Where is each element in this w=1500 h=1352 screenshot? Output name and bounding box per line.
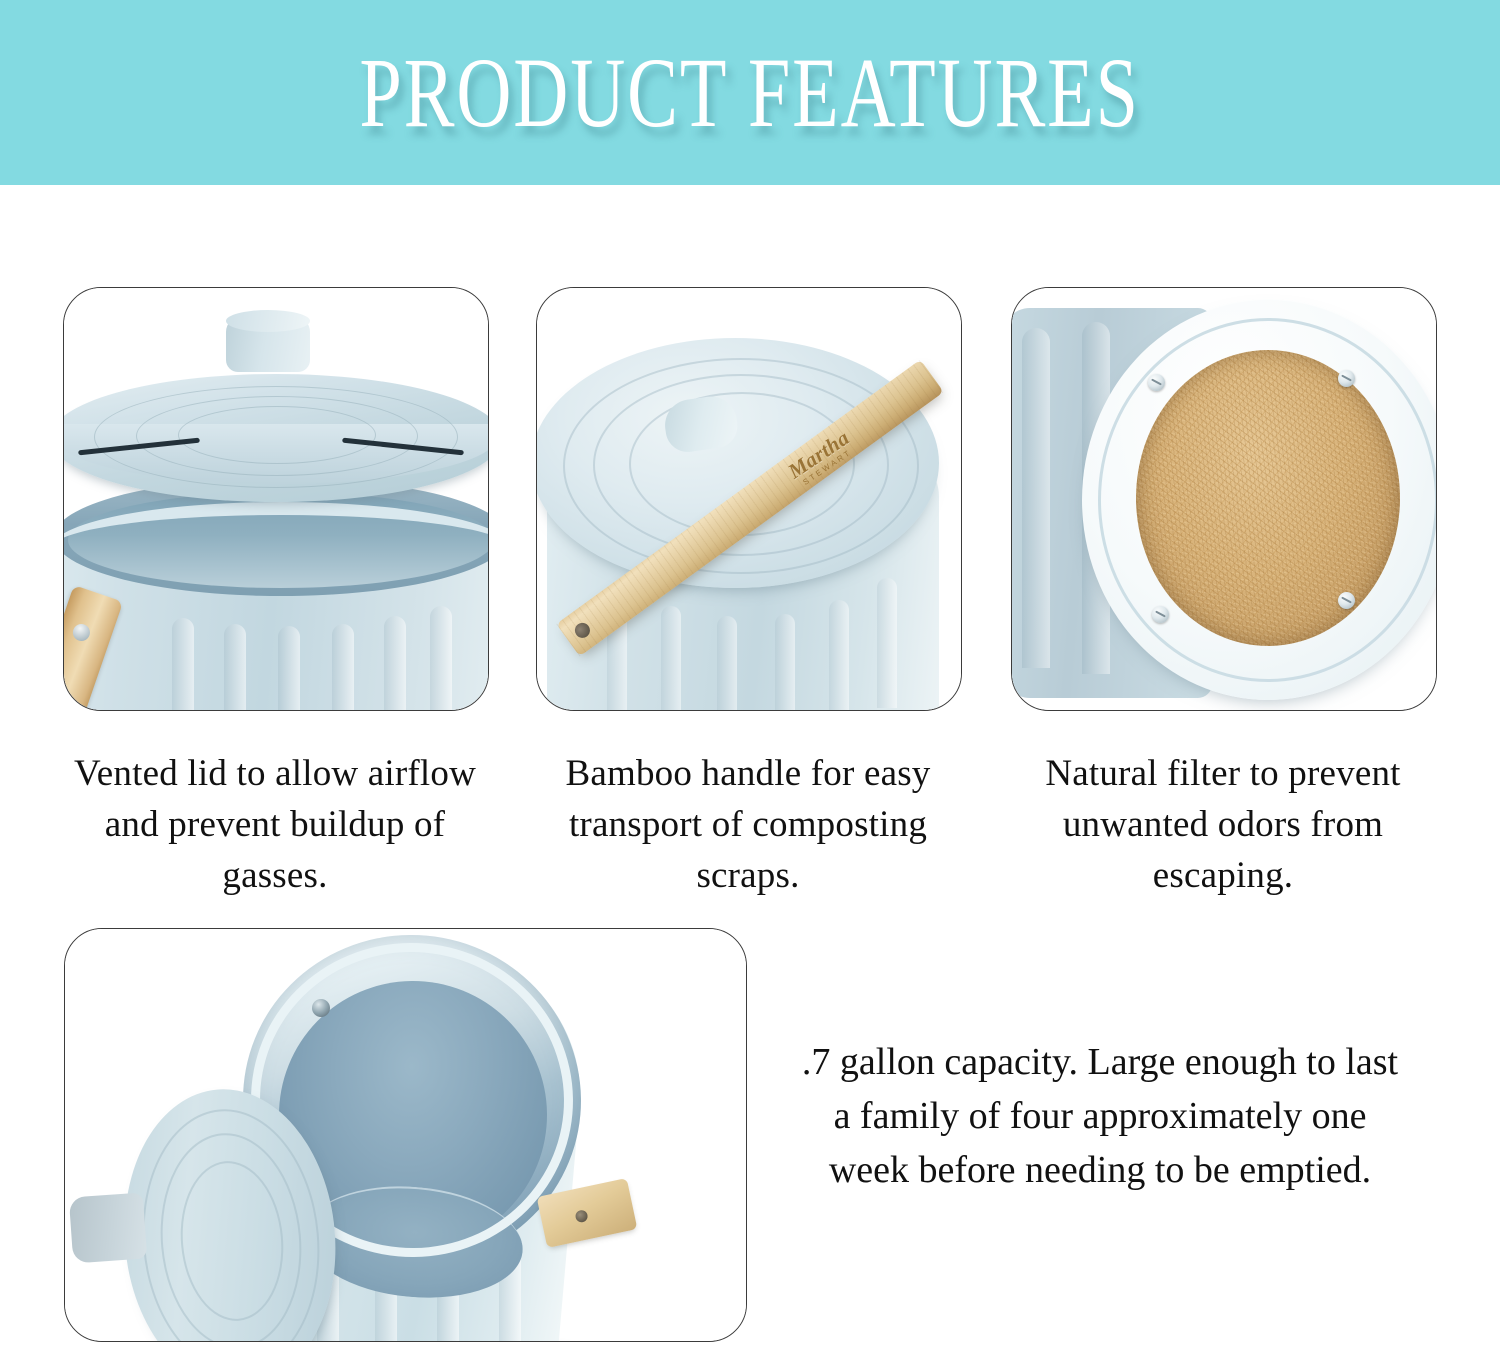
- bin-rib: [661, 606, 681, 710]
- header-banner: PRODUCT FEATURES: [0, 0, 1500, 185]
- bin-rib: [332, 624, 354, 710]
- handle-screw: [71, 622, 93, 644]
- bin-rib: [224, 624, 246, 710]
- page-title: PRODUCT FEATURES: [360, 35, 1141, 150]
- bin-rib: [877, 578, 897, 708]
- feature-caption-natural-filter: Natural filter to prevent unwanted odors…: [1011, 748, 1435, 901]
- feature-image-frame-vented-lid: [63, 287, 489, 711]
- bin-rib: [430, 606, 452, 710]
- feature-caption-bamboo-handle: Bamboo handle for easy transport of comp…: [536, 748, 960, 901]
- feature-image-frame-capacity: [64, 928, 747, 1342]
- natural-fiber-filter: [1136, 350, 1400, 646]
- filter-screw: [1338, 592, 1355, 609]
- product-photo-natural-filter: [1012, 288, 1436, 710]
- product-photo-vented-lid: [64, 288, 488, 710]
- feature-image-frame-bamboo-handle: Martha STEWART: [536, 287, 962, 711]
- feature-caption-vented-lid: Vented lid to allow airflow and prevent …: [63, 748, 487, 901]
- bin-rib: [717, 616, 737, 710]
- filter-screw: [1338, 370, 1355, 387]
- lid-knob-top: [226, 310, 310, 332]
- bin-rib: [384, 616, 406, 710]
- lid-rib: [1022, 328, 1050, 668]
- feature-image-frame-natural-filter: [1011, 287, 1437, 711]
- bin-rib: [172, 618, 194, 710]
- product-photo-capacity: [65, 929, 746, 1341]
- bin-rib: [278, 626, 300, 710]
- bin-rib: [829, 600, 849, 710]
- handle-mount-hole: [574, 1209, 588, 1223]
- vented-lid: [64, 316, 488, 516]
- filter-screw: [1148, 374, 1165, 391]
- lid-ridge: [178, 406, 376, 464]
- bin-rib: [775, 614, 795, 710]
- filter-screw: [1152, 606, 1169, 623]
- lid-knob: [69, 1192, 147, 1263]
- handle-mount-screw: [312, 999, 330, 1017]
- product-photo-bamboo-handle: Martha STEWART: [537, 288, 961, 710]
- capacity-caption: .7 gallon capacity. Large enough to last…: [790, 1036, 1410, 1198]
